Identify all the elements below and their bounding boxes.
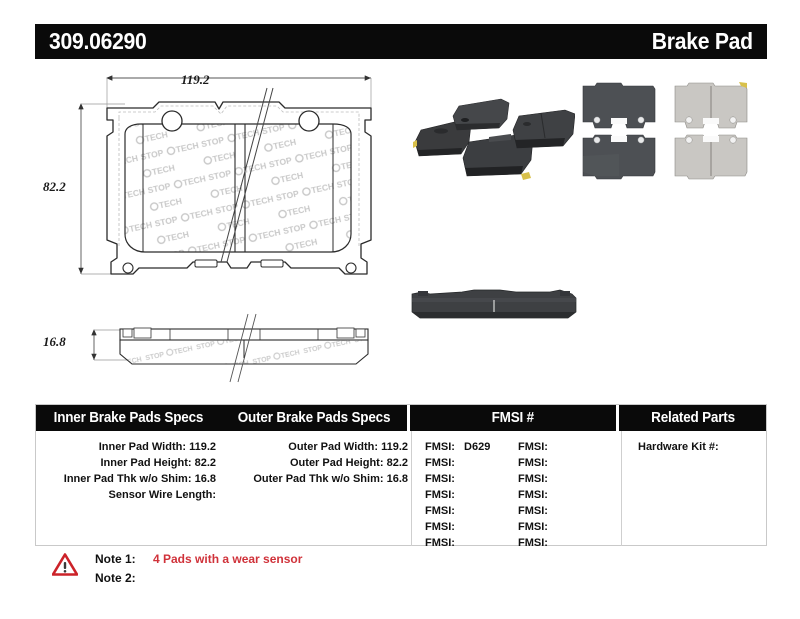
fmsi-label: FMSI: [518, 471, 548, 487]
fmsi-label: FMSI: [518, 535, 548, 551]
fmsi-label: FMSI: [518, 455, 548, 471]
outer-specs-list: Outer Pad Width: 119.2 Outer Pad Height:… [222, 439, 408, 487]
warning-triangle-icon [52, 553, 78, 576]
mounting-hole-left [162, 111, 182, 131]
spec-label: Inner Pad Height: [100, 457, 191, 469]
inner-specs-list: Inner Pad Width: 119.2 Inner Pad Height:… [36, 439, 216, 503]
spec-label: Outer Pad Width: [288, 441, 378, 453]
column-header-related: Related Parts [619, 405, 766, 431]
mounting-hole-right [299, 111, 319, 131]
table-header-row: Inner Brake Pads Specs Outer Brake Pads … [36, 405, 766, 431]
table-body: Inner Pad Width: 119.2 Inner Pad Height:… [36, 431, 766, 546]
spec-row: Inner Pad Width: 119.2 [36, 439, 216, 455]
friction-material [125, 124, 351, 252]
fmsi-column-right: FMSI: FMSI: FMSI: FMSI: [518, 439, 554, 551]
fmsi-row: FMSI: [425, 519, 490, 535]
specs-table: Inner Brake Pads Specs Outer Brake Pads … [35, 404, 767, 546]
fmsi-label: FMSI: [425, 439, 455, 455]
fmsi-label: FMSI: [518, 439, 548, 455]
fmsi-column-left: FMSI: D629 FMSI: FMSI: FMSI: [425, 439, 490, 551]
width-dimension-label: 119.2 [181, 72, 210, 88]
fmsi-label: FMSI: [518, 519, 548, 535]
header-bar: 309.06290 Brake Pad [35, 24, 767, 59]
spec-value: 119.2 [381, 441, 408, 453]
column-header-inner: Inner Brake Pads Specs [36, 405, 221, 431]
fmsi-label: FMSI: [518, 487, 548, 503]
fmsi-row: FMSI: [518, 455, 554, 471]
column-header-outer-label: Outer Brake Pads Specs [238, 410, 391, 426]
break-line [230, 314, 256, 382]
note-lines: Note 1: 4 Pads with a wear sensor Note 2… [95, 550, 302, 588]
fmsi-row: FMSI: [425, 487, 490, 503]
pad-backing-top-left [583, 83, 655, 128]
spec-row: Inner Pad Thk w/o Shim: 16.8 [36, 471, 216, 487]
fmsi-label: FMSI: [425, 503, 455, 519]
fmsi-row: FMSI: [518, 503, 554, 519]
note-row-2: Note 2: [95, 569, 302, 588]
thickness-dimension-label: 16.8 [43, 334, 66, 350]
spec-label: Inner Pad Thk w/o Shim: [64, 473, 192, 485]
photo-pad-edge-profile [400, 278, 590, 328]
spec-value: 82.2 [195, 457, 216, 469]
spec-label: Inner Pad Width: [99, 441, 186, 453]
spec-label: Outer Pad Thk w/o Shim: [253, 473, 383, 485]
part-number: 309.06290 [49, 28, 147, 55]
note-1-value: 4 Pads with a wear sensor [153, 550, 302, 569]
fmsi-value: D629 [464, 441, 490, 453]
pad-edge-view-drawing: STOP TECH [80, 310, 400, 390]
notes-section: Note 1: 4 Pads with a wear sensor Note 2… [35, 550, 767, 600]
column-header-fmsi: FMSI # [410, 405, 616, 431]
spec-row: Outer Pad Thk w/o Shim: 16.8 [222, 471, 408, 487]
fmsi-row: FMSI: [518, 487, 554, 503]
spec-label: Outer Pad Height: [290, 457, 384, 469]
column-header-inner-label: Inner Brake Pads Specs [54, 410, 204, 426]
fmsi-row: FMSI: [425, 455, 490, 471]
column-header-outer: Outer Brake Pads Specs [221, 405, 406, 431]
spec-label: Sensor Wire Length: [109, 489, 216, 501]
note-2-label: Note 2: [95, 569, 147, 588]
fmsi-label: FMSI: [425, 535, 455, 551]
photo-pads-angled-set [405, 80, 580, 185]
fmsi-row: FMSI: [425, 535, 490, 551]
spec-value: 119.2 [189, 441, 216, 453]
fmsi-row: FMSI: [518, 471, 554, 487]
fmsi-row: FMSI: D629 [425, 439, 490, 455]
photo-pads-front-back-grid [575, 80, 760, 185]
pad-backing-bottom-left [583, 135, 655, 179]
spec-row: Inner Pad Height: 82.2 [36, 455, 216, 471]
product-type: Brake Pad [652, 28, 753, 55]
fmsi-label: FMSI: [425, 455, 455, 471]
fmsi-row: FMSI: [518, 439, 554, 455]
spec-row: Outer Pad Height: 82.2 [222, 455, 408, 471]
drawing-area: STOP TECH STOP TECH [35, 62, 767, 392]
spec-value: 16.8 [195, 473, 216, 485]
note-row-1: Note 1: 4 Pads with a wear sensor [95, 550, 302, 569]
fmsi-row: FMSI: [518, 535, 554, 551]
related-parts-list: Hardware Kit #: [624, 439, 768, 455]
spec-row: Outer Pad Width: 119.2 [222, 439, 408, 455]
fmsi-row: FMSI: [425, 471, 490, 487]
spec-value: 16.8 [387, 473, 408, 485]
pad-front-view-drawing: STOP TECH STOP TECH [55, 62, 415, 322]
spec-value: 82.2 [387, 457, 408, 469]
fmsi-label: FMSI: [518, 503, 548, 519]
spec-sheet: 309.06290 Brake Pad STOP TECH STOP TECH [0, 0, 800, 619]
fmsi-row: FMSI: [518, 519, 554, 535]
related-part-row: Hardware Kit #: [624, 439, 768, 455]
related-part-label: Hardware Kit #: [638, 441, 719, 453]
fmsi-label: FMSI: [425, 519, 455, 535]
fmsi-label: FMSI: [425, 471, 455, 487]
column-header-related-label: Related Parts [651, 410, 735, 426]
spec-row: Sensor Wire Length: [36, 487, 216, 503]
pad-friction-bottom-right [675, 135, 747, 179]
pad-friction-top-right [675, 82, 747, 128]
height-dimension-label: 82.2 [43, 179, 66, 195]
fmsi-row: FMSI: [425, 503, 490, 519]
note-1-label: Note 1: [95, 550, 147, 569]
fmsi-label: FMSI: [425, 487, 455, 503]
column-header-fmsi-label: FMSI # [492, 410, 534, 426]
